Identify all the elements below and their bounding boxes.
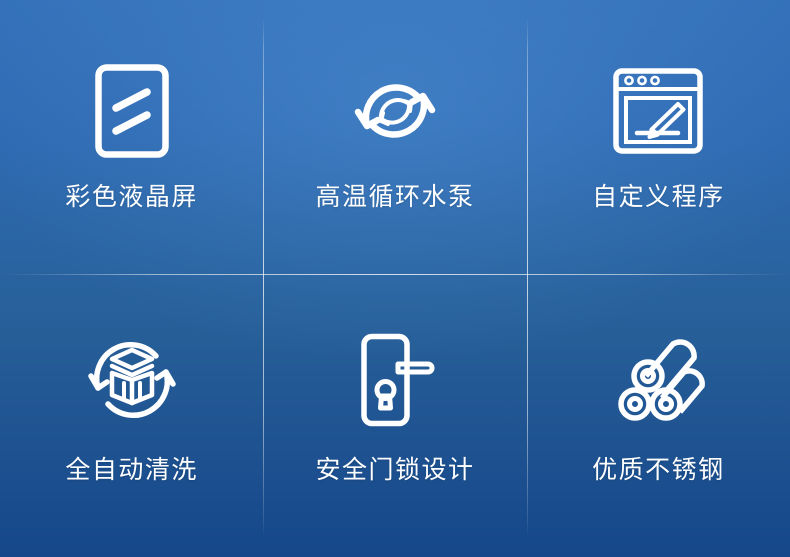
feature-label: 安全门锁设计 bbox=[315, 458, 474, 483]
feature-label: 高温循环水泵 bbox=[315, 185, 474, 210]
feature-label: 彩色液晶屏 bbox=[65, 185, 198, 210]
door-lock-icon bbox=[343, 328, 447, 432]
box-refresh-icon bbox=[80, 328, 184, 432]
steel-pipes-icon bbox=[606, 328, 710, 432]
lcd-screen-icon bbox=[80, 59, 184, 163]
feature-cell-safety-door-lock-design[interactable]: 安全门锁设计 bbox=[263, 275, 526, 557]
feature-cell-color-lcd-screen[interactable]: 彩色液晶屏 bbox=[0, 0, 263, 275]
window-pencil-edit-icon bbox=[606, 59, 710, 163]
feature-grid-page: 彩色液晶屏 高温循环水泵 bbox=[0, 0, 790, 557]
feature-label: 自定义程序 bbox=[592, 185, 725, 210]
feature-cell-fully-automatic-cleaning[interactable]: 全自动清洗 bbox=[0, 275, 263, 557]
feature-grid: 彩色液晶屏 高温循环水泵 bbox=[0, 0, 790, 557]
feature-cell-custom-program[interactable]: 自定义程序 bbox=[527, 0, 790, 275]
feature-label: 优质不锈钢 bbox=[592, 458, 725, 483]
circulation-arrows-icon bbox=[343, 59, 447, 163]
feature-label: 全自动清洗 bbox=[65, 458, 198, 483]
feature-cell-premium-stainless-steel[interactable]: 优质不锈钢 bbox=[527, 275, 790, 557]
feature-cell-high-temp-circulation-pump[interactable]: 高温循环水泵 bbox=[263, 0, 526, 275]
